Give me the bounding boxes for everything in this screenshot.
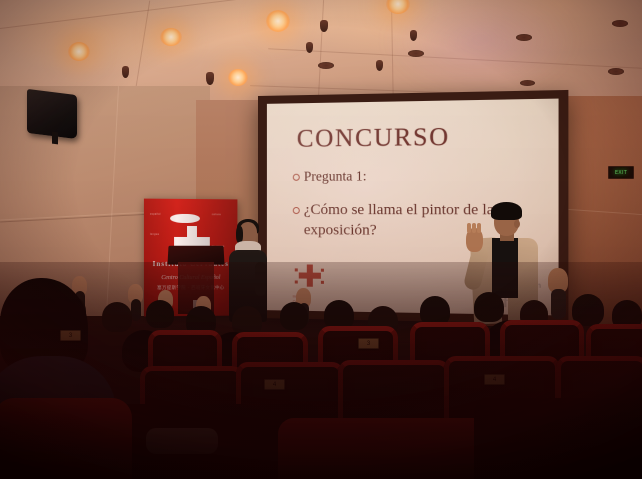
seat-number-badge: 4: [264, 379, 285, 390]
foreground-seat-cushion[interactable]: [278, 418, 498, 479]
track-spotlight: [410, 30, 417, 41]
finger: [472, 223, 476, 233]
exit-sign-label: EXIT: [615, 170, 627, 176]
seat-armrest: [146, 428, 218, 454]
raised-hand: [466, 228, 483, 252]
finger: [477, 223, 481, 233]
seat-number-badge: 3: [60, 330, 81, 341]
finger: [467, 223, 471, 233]
cervantes-cross-icon: [299, 264, 321, 286]
ceiling-downlight-on: [68, 42, 90, 61]
audience-raised-hand-right: [548, 268, 570, 314]
ceiling-downlight-off: [408, 50, 424, 57]
track-spotlight: [306, 42, 313, 53]
slide-title: CONCURSO: [297, 122, 543, 154]
slide-bullet: Pregunta 1:: [293, 166, 543, 185]
ceiling-downlight-off: [516, 34, 532, 41]
bullet-circle-icon: [293, 174, 300, 181]
ceiling-downlight-on: [266, 10, 290, 32]
hair: [491, 202, 522, 220]
audience-head: [146, 300, 174, 328]
ceiling-downlight-off: [520, 80, 535, 86]
cervantes-cross-tip: [295, 280, 298, 283]
track-spotlight: [376, 60, 383, 71]
ceiling-downlight-on: [160, 28, 182, 46]
cervantes-cross-tip: [295, 268, 298, 271]
audience-head: [474, 292, 504, 322]
forearm-sleeve: [551, 289, 566, 319]
foreground-seat[interactable]: [474, 398, 642, 479]
shirt: [492, 238, 518, 298]
ear: [514, 220, 520, 228]
ceiling-downlight-off: [612, 20, 628, 27]
ceiling-downlight-on: [228, 69, 248, 86]
ceiling-downlight-off: [608, 68, 624, 75]
speaker-bracket: [52, 132, 58, 145]
seat-number-badge: 3: [358, 338, 379, 349]
track-spotlight: [320, 20, 328, 32]
auditorium-photo: EXIT CONCURSO Pregunta 1: ¿Cómo se llama…: [0, 0, 642, 479]
audience-head: [102, 302, 132, 332]
cervantes-cross-tip: [321, 269, 324, 272]
exit-sign: EXIT: [608, 166, 634, 179]
bullet-circle-icon: [293, 207, 300, 214]
wall-panel-seam: [106, 86, 119, 316]
ceiling-downlight-off: [318, 62, 334, 69]
slide-bullet-label: Pregunta 1:: [304, 167, 367, 185]
audience-head: [280, 302, 308, 330]
arm: [255, 262, 266, 296]
track-spotlight: [122, 66, 129, 78]
foreground-seat-cushion[interactable]: [0, 398, 132, 479]
seat-number-badge: 4: [484, 374, 505, 385]
cervantes-cross-tip: [321, 281, 324, 284]
track-spotlight: [206, 72, 214, 85]
forearm: [131, 299, 141, 321]
